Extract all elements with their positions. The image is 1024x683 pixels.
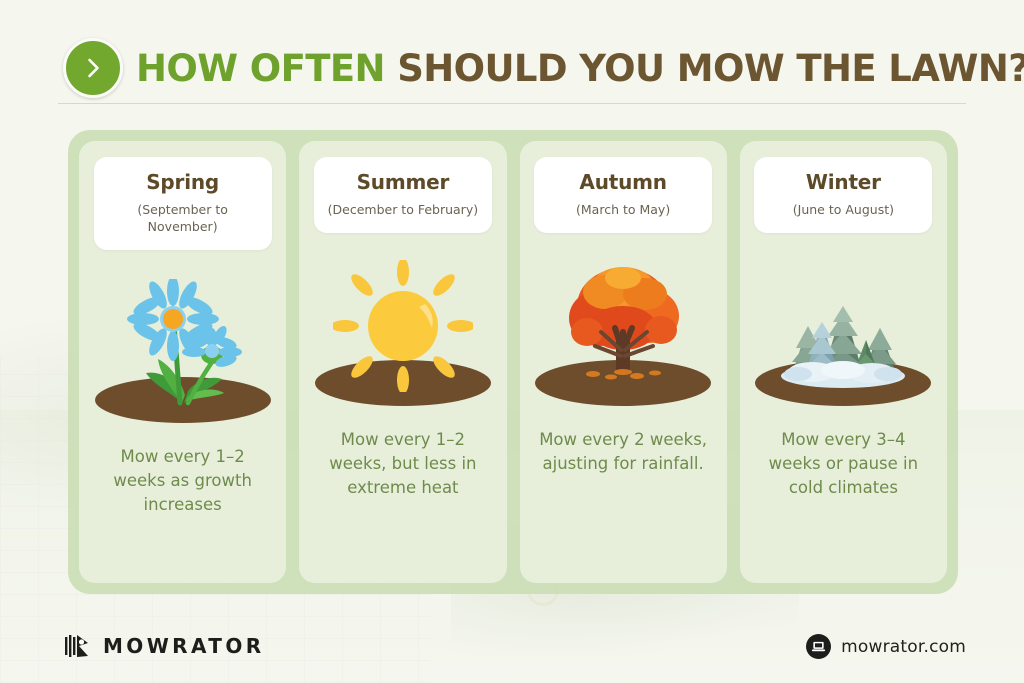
season-name: Winter: [762, 170, 924, 194]
sun-icon: [333, 260, 473, 392]
brand-logo[interactable]: MOWRATOR: [64, 632, 265, 660]
mowrator-mark-icon: [64, 632, 92, 660]
season-card-autumn[interactable]: Autumn (March to May): [520, 141, 727, 583]
season-illustration: [740, 237, 947, 422]
chevron-right-icon: [63, 38, 123, 98]
website-link[interactable]: mowrator.com: [806, 634, 966, 659]
page-header: HOW OFTEN SHOULD YOU MOW THE LAWN?: [0, 0, 1024, 118]
flower-icon: [108, 279, 258, 409]
autumn-tree-icon: [553, 262, 693, 392]
season-illustration: [299, 237, 506, 422]
season-description: Mow every 3–4 weeks or pause in cold cli…: [757, 428, 929, 500]
season-card-winter[interactable]: Winter (June to August): [740, 141, 947, 583]
season-name: Summer: [322, 170, 484, 194]
page-footer: MOWRATOR mowrator.com: [0, 614, 1024, 683]
season-description: Mow every 1–2 weeks as growth increases: [97, 445, 269, 517]
season-card-spring[interactable]: Spring (September to November): [79, 141, 286, 583]
page-title: HOW OFTEN SHOULD YOU MOW THE LAWN?: [136, 40, 1024, 98]
brand-name: MOWRATOR: [103, 634, 265, 658]
season-header-chip: Summer (December to February): [314, 157, 492, 233]
season-months: (March to May): [542, 201, 704, 218]
season-illustration: [79, 254, 286, 439]
seasons-columns: Spring (September to November): [68, 130, 958, 594]
season-card-summer[interactable]: Summer (December to February): [299, 141, 506, 583]
header-divider: [58, 103, 966, 104]
season-illustration: [520, 237, 727, 422]
season-header-chip: Autumn (March to May): [534, 157, 712, 233]
season-header-chip: Spring (September to November): [94, 157, 272, 250]
season-description: Mow every 1–2 weeks, but less in extreme…: [317, 428, 489, 500]
season-name: Spring: [102, 170, 264, 194]
season-description: Mow every 2 weeks, ajusting for rainfall…: [537, 428, 709, 476]
page-title-highlight: HOW OFTEN: [136, 47, 385, 90]
snowy-pines-icon: [768, 264, 918, 392]
season-months: (December to February): [322, 201, 484, 218]
website-url: mowrator.com: [841, 637, 966, 657]
season-header-chip: Winter (June to August): [754, 157, 932, 233]
season-months: (June to August): [762, 201, 924, 218]
laptop-icon: [806, 634, 831, 659]
season-name: Autumn: [542, 170, 704, 194]
page-title-rest: SHOULD YOU MOW THE LAWN?: [397, 47, 1024, 90]
season-months: (September to November): [102, 201, 264, 235]
